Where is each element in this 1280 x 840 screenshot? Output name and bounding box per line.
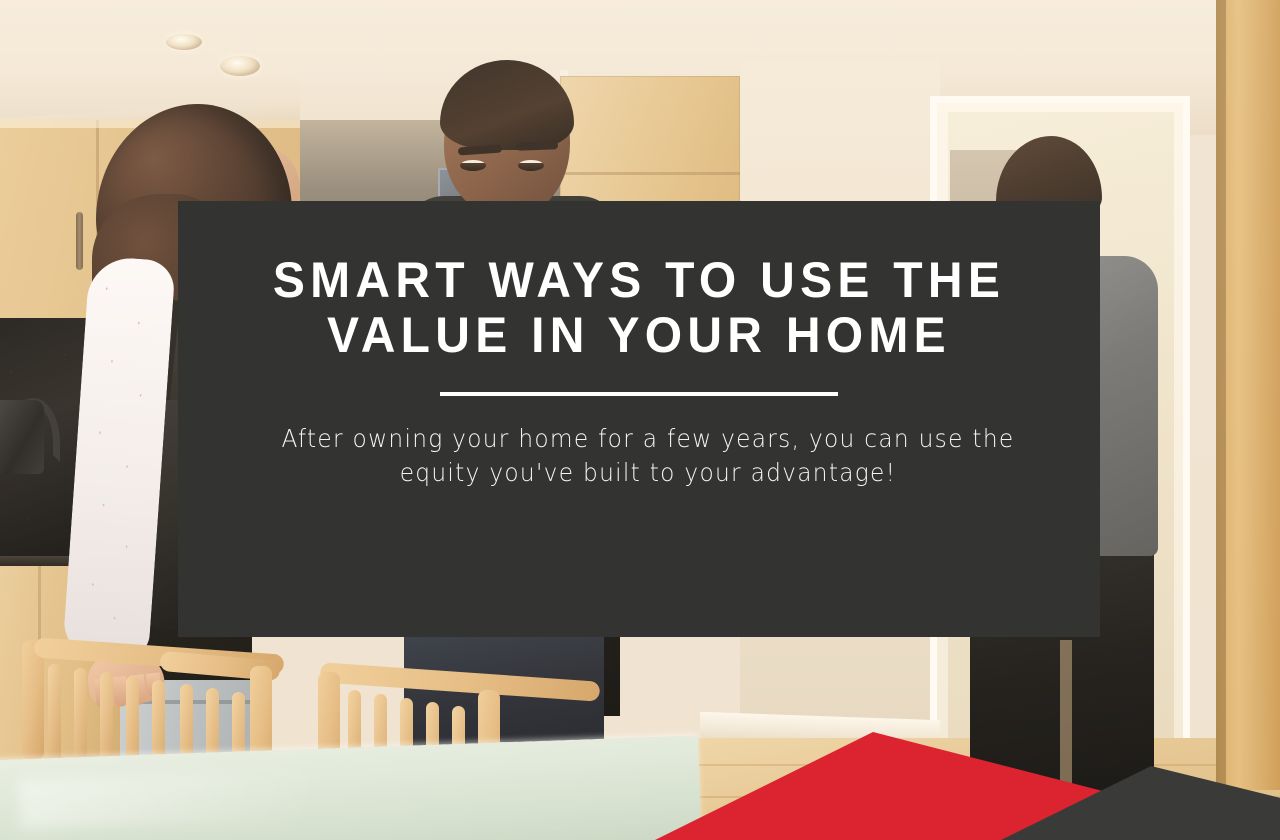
downlight-icon bbox=[220, 56, 260, 76]
cabinet-seam bbox=[560, 172, 740, 175]
cabinet-handle-icon bbox=[76, 212, 83, 270]
man-center-eyebrow bbox=[516, 141, 558, 150]
table-reflection bbox=[19, 765, 440, 830]
text-overlay-card: SMART WAYS TO USE THE VALUE IN YOUR HOME… bbox=[178, 201, 1100, 637]
door-edge-shadow bbox=[1216, 0, 1226, 790]
chair-post bbox=[22, 640, 44, 760]
kettle-icon bbox=[0, 400, 44, 474]
divider bbox=[440, 392, 838, 396]
dark-accent-triangle bbox=[1001, 766, 1280, 840]
subtitle-text: After owning your home for a few years, … bbox=[248, 422, 1048, 490]
man-center-eye bbox=[518, 160, 544, 171]
page-title: SMART WAYS TO USE THE VALUE IN YOUR HOME bbox=[235, 253, 1043, 363]
downlight-icon bbox=[166, 34, 202, 50]
man-center-eye bbox=[460, 160, 486, 171]
poster-canvas: SMART WAYS TO USE THE VALUE IN YOUR HOME… bbox=[0, 0, 1280, 840]
